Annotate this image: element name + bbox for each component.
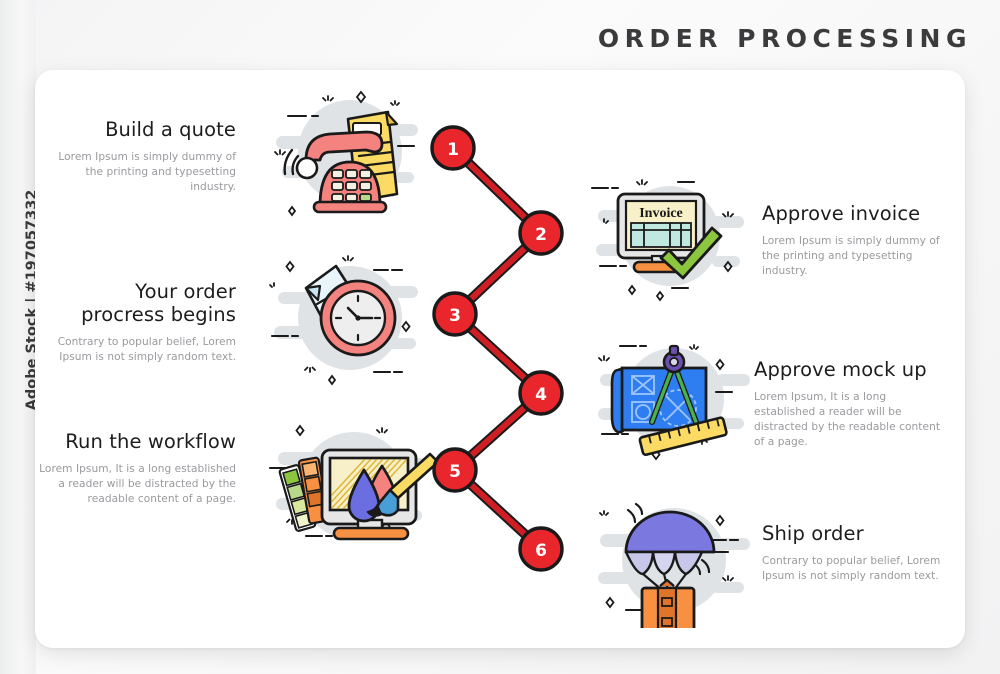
- invoice-screen-label: Invoice: [639, 206, 683, 221]
- step-text-approve-mock-up: Approve mock up Lorem Ipsum, It is a lon…: [754, 358, 948, 450]
- step-heading: Ship order: [762, 522, 948, 545]
- watermark-strip: Adobe Stock | #197057332: [0, 0, 36, 674]
- step-body: Lorem Ipsum is simply dummy of the print…: [762, 234, 948, 279]
- page-title: ORDER PROCESSING: [598, 24, 972, 53]
- step-heading: Build a quote: [40, 118, 236, 141]
- step-text-approve-invoice: Approve invoice Lorem Ipsum is simply du…: [762, 202, 948, 279]
- icon-document-clock: [262, 248, 432, 388]
- step-body: Contrary to popular belief, Lorem Ipsum …: [762, 554, 948, 584]
- step-heading: Your order procress begins: [44, 280, 236, 326]
- step-heading: Run the workflow: [38, 430, 236, 453]
- icon-invoice-monitor-check: Invoice: [586, 172, 756, 302]
- package-box: [642, 580, 694, 628]
- step-heading-line-2: procress begins: [81, 303, 236, 326]
- icon-parachute-package: [590, 494, 760, 628]
- step-text-ship-order: Ship order Contrary to popular belief, L…: [762, 522, 948, 584]
- step-body: Lorem Ipsum, It is a long established a …: [38, 462, 236, 507]
- icon-design-monitor-brush: [262, 414, 440, 554]
- step-text-your-order-procress-begins: Your order procress begins Contrary to p…: [44, 280, 236, 365]
- step-heading: Approve mock up: [754, 358, 948, 381]
- step-heading-line-1: Your order: [135, 280, 236, 303]
- clock: [321, 281, 395, 355]
- step-body: Contrary to popular belief, Lorem Ipsum …: [44, 335, 236, 365]
- step-body: Lorem Ipsum, It is a long established a …: [754, 390, 948, 450]
- icon-blueprint-compass-ruler: [590, 334, 760, 464]
- step-body: Lorem Ipsum is simply dummy of the print…: [40, 150, 236, 195]
- step-text-run-the-workflow: Run the workflow Lorem Ipsum, It is a lo…: [38, 430, 236, 507]
- step-heading: Approve invoice: [762, 202, 948, 225]
- infographic-canvas: ​ ORDER PROCESSING Adobe Stock | #197057…: [0, 0, 1000, 674]
- step-text-build-a-quote: Build a quote Lorem Ipsum is simply dumm…: [40, 118, 236, 195]
- icon-telephone-quote: [262, 84, 432, 224]
